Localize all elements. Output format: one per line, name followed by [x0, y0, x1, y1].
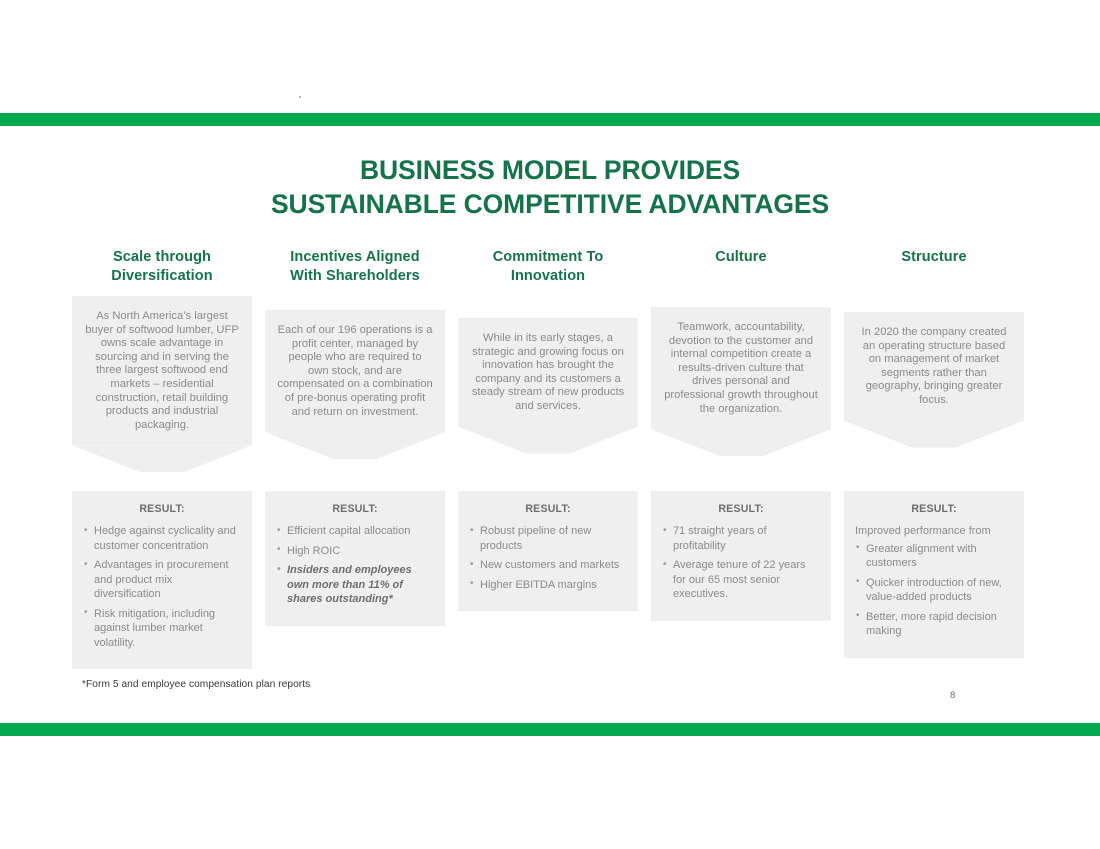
result-bullet: Robust pipeline of new products — [469, 524, 627, 553]
pillar-heading-line-2: With Shareholders — [265, 267, 445, 286]
result-bullet: Higher EBITDA margins — [469, 578, 627, 593]
result-bullet: 71 straight years of profitability — [662, 524, 820, 553]
result-bullet: Better, more rapid decision making — [855, 610, 1013, 639]
pillar-column-commitment-to-innovation: Commitment To Innovation While in its ea… — [458, 248, 638, 286]
result-card-intro: Improved performance from — [855, 524, 1013, 539]
result-bullet-list: Hedge against cyclicality and customer c… — [83, 524, 241, 650]
result-bullet: Risk mitigation, including against lumbe… — [83, 607, 241, 651]
statement-card: Each of our 196 operations is a profit c… — [265, 310, 445, 432]
result-card-title: RESULT: — [855, 503, 1013, 515]
result-bullet: New customers and markets — [469, 558, 627, 573]
statement-card: As North America’s largest buyer of soft… — [72, 296, 252, 445]
statement-card-wrap: Each of our 196 operations is a profit c… — [265, 310, 445, 459]
pillar-heading: Commitment To Innovation — [458, 248, 638, 286]
statement-card-wrap: While in its early stages, a strategic a… — [458, 318, 638, 454]
result-bullet: Hedge against cyclicality and customer c… — [83, 524, 241, 553]
statement-card-chevron-tail — [72, 445, 252, 472]
result-card-title: RESULT: — [83, 503, 241, 515]
pillar-column-scale-through-diversification: Scale through Diversification As North A… — [72, 248, 252, 286]
pillar-heading-line-1: Culture — [651, 248, 831, 267]
slide-title-line-1: BUSINESS MODEL PROVIDES — [0, 153, 1100, 187]
result-bullet-list: Efficient capital allocation High ROIC I… — [276, 524, 434, 607]
statement-card: Teamwork, accountability, devotion to th… — [651, 307, 831, 429]
result-bullet: Efficient capital allocation — [276, 524, 434, 539]
bottom-green-rule — [0, 723, 1100, 736]
result-bullet-emphasized: Insiders and employees own more than 11%… — [276, 563, 434, 607]
statement-card-chevron-tail — [458, 427, 638, 454]
statement-card-wrap: Teamwork, accountability, devotion to th… — [651, 307, 831, 456]
result-card-title: RESULT: — [276, 503, 434, 515]
result-bullet-list: Robust pipeline of new products New cust… — [469, 524, 627, 592]
result-card: RESULT: Efficient capital allocation Hig… — [265, 491, 445, 626]
page-number: 8 — [950, 690, 955, 701]
pillar-heading-line-1: Scale through — [72, 248, 252, 267]
pillar-heading-line-2: Innovation — [458, 267, 638, 286]
result-card-title: RESULT: — [662, 503, 820, 515]
result-bullet: Quicker introduction of new, value-added… — [855, 576, 1013, 605]
pillar-heading-line-1: Incentives Aligned — [265, 248, 445, 267]
pillar-heading-line-1: Structure — [844, 248, 1024, 267]
pillar-heading-line-1: Commitment To — [458, 248, 638, 267]
result-card: RESULT: Improved performance from Greate… — [844, 491, 1024, 658]
footnote: *Form 5 and employee compensation plan r… — [82, 679, 310, 690]
statement-card: In 2020 the company created an operating… — [844, 312, 1024, 421]
pillar-heading: Incentives Aligned With Shareholders — [265, 248, 445, 286]
statement-card-wrap: As North America’s largest buyer of soft… — [72, 296, 252, 472]
result-card: RESULT: 71 straight years of profitabili… — [651, 491, 831, 621]
statement-card-chevron-tail — [651, 429, 831, 456]
result-bullet: Advantages in procurement and product mi… — [83, 558, 241, 602]
statement-card-chevron-tail — [844, 421, 1024, 448]
result-card: RESULT: Hedge against cyclicality and cu… — [72, 491, 252, 669]
statement-card-chevron-tail — [265, 432, 445, 459]
slide: BUSINESS MODEL PROVIDES SUSTAINABLE COMP… — [0, 0, 1100, 849]
pillar-column-culture: Culture Teamwork, accountability, devoti… — [651, 248, 831, 267]
top-green-rule — [0, 113, 1100, 126]
result-bullet: High ROIC — [276, 544, 434, 559]
pillar-columns: Scale through Diversification As North A… — [72, 248, 1032, 648]
result-bullet-list: 71 straight years of profitability Avera… — [662, 524, 820, 602]
statement-card: While in its early stages, a strategic a… — [458, 318, 638, 427]
pillar-column-incentives-aligned-with-shareholders: Incentives Aligned With Shareholders Eac… — [265, 248, 445, 286]
result-bullet-list: Greater alignment with customers Quicker… — [855, 542, 1013, 639]
result-bullet: Greater alignment with customers — [855, 542, 1013, 571]
result-bullet: Average tenure of 22 years for our 65 mo… — [662, 558, 820, 602]
slide-title: BUSINESS MODEL PROVIDES SUSTAINABLE COMP… — [0, 153, 1100, 221]
pillar-heading: Scale through Diversification — [72, 248, 252, 286]
statement-card-wrap: In 2020 the company created an operating… — [844, 312, 1024, 448]
pillar-heading: Culture — [651, 248, 831, 267]
result-card: RESULT: Robust pipeline of new products … — [458, 491, 638, 611]
result-card-title: RESULT: — [469, 503, 627, 515]
pillar-heading-line-2: Diversification — [72, 267, 252, 286]
pillar-heading: Structure — [844, 248, 1024, 267]
stray-dot-mark — [299, 96, 301, 98]
slide-title-line-2: SUSTAINABLE COMPETITIVE ADVANTAGES — [0, 187, 1100, 221]
pillar-column-structure: Structure In 2020 the company created an… — [844, 248, 1024, 267]
